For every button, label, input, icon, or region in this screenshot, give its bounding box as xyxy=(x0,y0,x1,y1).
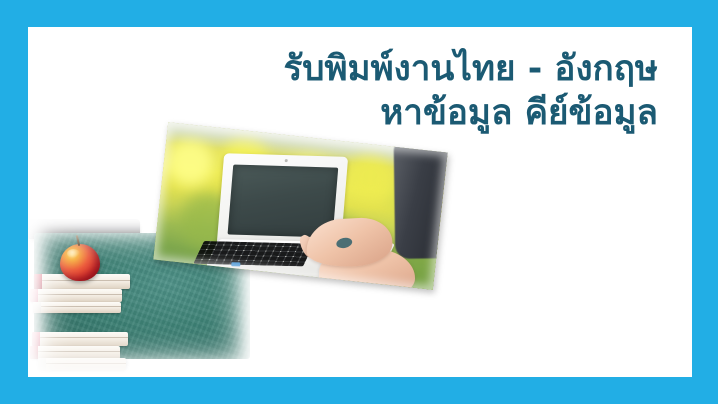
book-stack-item xyxy=(30,289,122,302)
dark-sleeve xyxy=(394,140,448,259)
laptop-keyboard xyxy=(193,241,314,266)
book-pages xyxy=(46,358,126,370)
red-apple xyxy=(60,244,100,281)
book-stack-item xyxy=(38,358,126,370)
laptop-port xyxy=(231,262,240,266)
book-pages xyxy=(40,332,128,346)
headline-line-2: หาข้อมูล คีย์ข้อมูล xyxy=(283,95,658,132)
headline-line-1: รับพิมพ์งานไทย - อังกฤษ xyxy=(283,51,658,88)
book-stack-item xyxy=(32,332,128,346)
headline-block: รับพิมพ์งานไทย - อังกฤษ หาข้อมูล คีย์ข้อ… xyxy=(283,51,658,132)
promo-banner: acer รับพิมพ์งานไทย - อังกฤษ หาข้อมูล คี… xyxy=(0,0,718,404)
webcam-icon xyxy=(284,159,287,162)
book-stack-item xyxy=(33,302,121,313)
book-pages xyxy=(41,302,121,313)
banner-canvas: acer รับพิมพ์งานไทย - อังกฤษ หาข้อมูล คี… xyxy=(28,27,692,377)
book-pages xyxy=(38,289,122,302)
